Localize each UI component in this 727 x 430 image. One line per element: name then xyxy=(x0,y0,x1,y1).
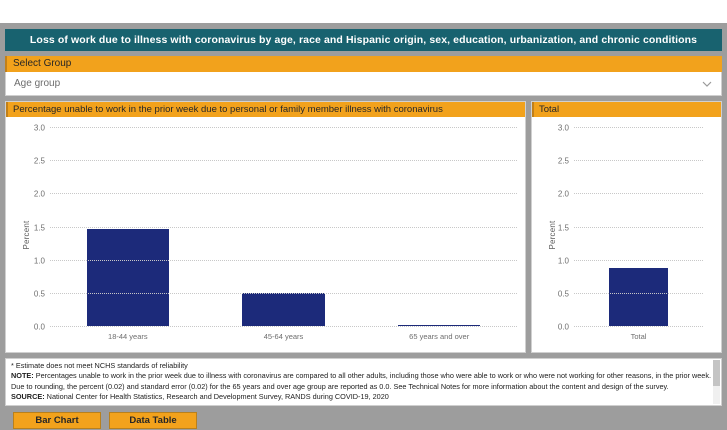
gridline: 3.0 xyxy=(574,127,703,128)
charts-row: Percentage unable to work in the prior w… xyxy=(5,101,722,353)
y-axis-tick: 2.0 xyxy=(558,190,569,199)
data-table-button[interactable]: Data Table xyxy=(109,412,197,429)
y-axis-tick: 0.5 xyxy=(34,289,45,298)
footnote-note: NOTE: Percentages unable to work in the … xyxy=(11,371,715,392)
total-bar-chart: Percent Total 0.00.51.01.52.02.53.0 xyxy=(532,117,721,352)
gridline: 1.0 xyxy=(574,260,703,261)
main-chart-plot-area: 18-44 years45-64 years65 years and over … xyxy=(50,127,517,326)
select-group-dropdown[interactable]: Age group xyxy=(5,72,722,96)
main-chart-panel: Percentage unable to work in the prior w… xyxy=(5,101,526,353)
bar-chart-button[interactable]: Bar Chart xyxy=(13,412,101,429)
footnote-note-label: NOTE: xyxy=(11,371,34,380)
gridline: 0.0 xyxy=(50,326,517,327)
y-axis-tick: 1.5 xyxy=(34,223,45,232)
y-axis-tick: 2.5 xyxy=(34,157,45,166)
bar[interactable] xyxy=(242,293,325,326)
footnote-reliability: * Estimate does not meet NCHS standards … xyxy=(11,361,715,371)
total-chart-body: Percent Total 0.00.51.01.52.02.53.0 xyxy=(532,117,721,352)
gridline: 0.5 xyxy=(50,293,517,294)
gridline: 1.0 xyxy=(50,260,517,261)
main-chart-y-axis-label: Percent xyxy=(22,220,31,249)
y-axis-tick: 0.5 xyxy=(558,289,569,298)
footnote-source-label: SOURCE: xyxy=(11,392,45,401)
y-axis-tick: 0.0 xyxy=(558,323,569,332)
y-axis-tick: 2.5 xyxy=(558,157,569,166)
select-group-block: Select Group Age group xyxy=(5,56,722,96)
total-chart-panel: Total Percent Total 0.00.51.01.52.02.53.… xyxy=(531,101,722,353)
gridline: 2.5 xyxy=(50,160,517,161)
screenshot-root: Loss of work due to illness with coronav… xyxy=(0,0,727,430)
gridline: 1.5 xyxy=(574,227,703,228)
main-bar-chart: Percent 18-44 years45-64 years65 years a… xyxy=(6,117,525,352)
page-title: Loss of work due to illness with coronav… xyxy=(5,29,722,51)
total-chart-y-axis-label: Percent xyxy=(548,220,557,249)
gridline: 2.5 xyxy=(574,160,703,161)
x-axis-tick: 45-64 years xyxy=(264,332,304,341)
bar[interactable] xyxy=(609,268,668,326)
y-axis-tick: 1.0 xyxy=(558,256,569,265)
gridline: 0.5 xyxy=(574,293,703,294)
gridline: 2.0 xyxy=(50,193,517,194)
view-toggle-buttons: Bar Chart Data Table xyxy=(5,412,722,429)
footnotes-scrollbar-thumb[interactable] xyxy=(713,360,720,386)
y-axis-tick: 2.0 xyxy=(34,190,45,199)
footnote-source-text: National Center for Health Statistics, R… xyxy=(45,392,389,401)
footnote-source: SOURCE: National Center for Health Stati… xyxy=(11,392,715,402)
chevron-down-icon[interactable] xyxy=(702,79,711,88)
total-chart-plot-area: Total 0.00.51.01.52.02.53.0 xyxy=(574,127,703,326)
x-axis-tick: 18-44 years xyxy=(108,332,148,341)
gridline: 3.0 xyxy=(50,127,517,128)
y-axis-tick: 1.5 xyxy=(558,223,569,232)
application-frame: Loss of work due to illness with coronav… xyxy=(0,23,727,430)
main-chart-body: Percent 18-44 years45-64 years65 years a… xyxy=(6,117,525,352)
x-axis-tick: 65 years and over xyxy=(409,332,469,341)
x-axis-tick: Total xyxy=(631,332,647,341)
select-group-value: Age group xyxy=(14,78,60,89)
footnotes-panel: * Estimate does not meet NCHS standards … xyxy=(5,358,722,406)
total-chart-header: Total xyxy=(532,102,721,117)
y-axis-tick: 1.0 xyxy=(34,256,45,265)
select-group-label: Select Group xyxy=(5,56,722,72)
bar[interactable] xyxy=(87,229,170,327)
main-chart-header: Percentage unable to work in the prior w… xyxy=(6,102,525,117)
gridline: 2.0 xyxy=(574,193,703,194)
y-axis-tick: 0.0 xyxy=(34,323,45,332)
footnote-note-text: Percentages unable to work in the prior … xyxy=(11,371,711,390)
y-axis-tick: 3.0 xyxy=(558,124,569,133)
gridline: 1.5 xyxy=(50,227,517,228)
gridline: 0.0 xyxy=(574,326,703,327)
y-axis-tick: 3.0 xyxy=(34,124,45,133)
